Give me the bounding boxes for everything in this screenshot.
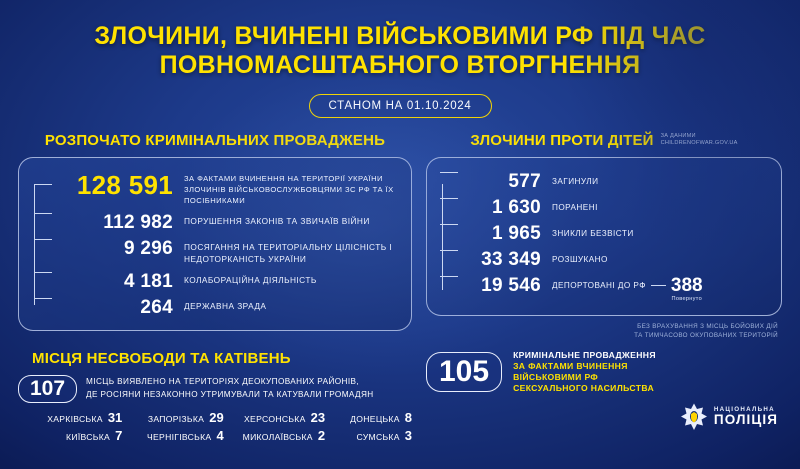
region-item: Донецька 8 xyxy=(325,410,412,425)
sv-line-2: за фактами вчинення xyxy=(513,361,656,372)
proceedings-value: 264 xyxy=(55,298,173,317)
proceedings-section: РОЗПОЧАТО КРИМІНАЛЬНИХ ПРОВАДЖЕНЬ 128 59… xyxy=(18,132,412,340)
children-source: ЗА ДАНИМИ CHILDRENOFWAR.GOV.UA xyxy=(661,133,738,149)
children-row: 33 349 Розшукано xyxy=(461,250,767,269)
detention-desc-line-1: місць виявлено на територіях деокуповани… xyxy=(86,376,374,388)
detention-heading-label: МІСЦЯ НЕСВОБОДИ ТА КАТІВЕНЬ xyxy=(32,350,291,367)
sexual-violence-description: кримінальне провадження за фактами вчине… xyxy=(513,350,656,394)
region-value: 3 xyxy=(405,428,412,443)
children-row-deported: 19 546 Депортовані до РФ 388 Повернуто xyxy=(461,276,767,302)
region-item: Запорізька 29 xyxy=(122,410,223,425)
detention-section: МІСЦЯ НЕСВОБОДИ ТА КАТІВЕНЬ 107 місць ви… xyxy=(18,350,412,443)
sv-line-4: сексуального насильства xyxy=(513,383,656,394)
proceedings-row: 9 296 Посягання на територіальну цілісні… xyxy=(55,239,397,265)
bracket-tick-icon xyxy=(34,239,52,240)
proceedings-label: Порушення законів та звичаїв війни xyxy=(173,213,370,227)
as-of-date-badge: СТАНОМ НА 01.10.2024 xyxy=(309,94,492,118)
proceedings-row: 264 Державна зрада xyxy=(55,298,397,317)
region-name: Сумська xyxy=(357,432,400,442)
proceedings-row: 4 181 Колабораційна діяльність xyxy=(55,272,397,291)
title-line-2: ПОВНОМАСШТАБНОГО ВТОРГНЕННЯ xyxy=(0,51,800,80)
sexual-violence-count-badge: 105 xyxy=(426,352,502,392)
sexual-violence-summary: 105 кримінальне провадження за фактами в… xyxy=(426,350,782,394)
returned-value: 388 xyxy=(671,276,703,295)
region-item: Київська 7 xyxy=(18,428,122,443)
region-name: Київська xyxy=(66,432,110,442)
region-item: Херсонська 23 xyxy=(224,410,325,425)
region-name: Запорізька xyxy=(148,414,204,424)
detention-desc-line-2: де росіяни незаконно утримували та катув… xyxy=(86,389,374,401)
proceedings-label: Державна зрада xyxy=(173,298,266,312)
region-item: Чернігівська 4 xyxy=(122,428,223,443)
region-value: 31 xyxy=(108,410,122,425)
children-row: 577 Загинули xyxy=(461,172,767,191)
children-source-line-1: ЗА ДАНИМИ xyxy=(661,133,738,140)
region-name: Миколаївська xyxy=(243,432,313,442)
region-item: Харківська 31 xyxy=(18,410,122,425)
proceedings-heading-label: РОЗПОЧАТО КРИМІНАЛЬНИХ ПРОВАДЖЕНЬ xyxy=(45,132,385,149)
bracket-tick-icon xyxy=(440,250,458,251)
returned-label: Повернуто xyxy=(671,296,703,302)
region-value: 29 xyxy=(209,410,223,425)
sv-line-3: військовими РФ xyxy=(513,372,656,383)
region-value: 23 xyxy=(311,410,325,425)
title-line-1: ЗЛОЧИНИ, ВЧИНЕНІ ВІЙСЬКОВИМИ РФ ПІД ЧАС xyxy=(0,22,800,51)
region-item: Миколаївська 2 xyxy=(224,428,325,443)
proceedings-rows: 128 591 За фактами вчинення на території… xyxy=(31,172,397,317)
bracket-tick-icon xyxy=(440,224,458,225)
children-label: Поранені xyxy=(541,198,598,214)
sv-line-1: кримінальне провадження xyxy=(513,350,656,361)
police-badge-icon xyxy=(681,403,707,432)
police-logo: НАЦІОНАЛЬНА ПОЛІЦІЯ xyxy=(426,403,782,432)
children-label: Депортовані до РФ xyxy=(541,276,646,292)
detention-summary: 107 місць виявлено на територіях деокупо… xyxy=(18,375,412,403)
proceedings-label: Посягання на територіальну цілісність і … xyxy=(173,239,397,265)
bracket-tick-icon xyxy=(34,298,52,299)
children-footnote: Без врахування з місць бойових дій та ти… xyxy=(426,322,782,340)
connector-dash-icon xyxy=(651,285,666,286)
region-value: 7 xyxy=(115,428,122,443)
children-label: Зникли безвісти xyxy=(541,224,634,240)
deported-group: Депортовані до РФ 388 Повернуто xyxy=(541,276,767,302)
date-badge-wrapper: СТАНОМ НА 01.10.2024 xyxy=(0,94,800,118)
children-value: 1 630 xyxy=(461,198,541,217)
children-value: 1 965 xyxy=(461,224,541,243)
bracket-tick-icon xyxy=(440,172,458,173)
region-name: Чернігівська xyxy=(147,432,211,442)
region-name: Харківська xyxy=(47,414,103,424)
region-name: Херсонська xyxy=(244,414,306,424)
children-footnote-line-1: Без врахування з місць бойових дій xyxy=(426,322,778,331)
bracket-tick-icon xyxy=(34,272,52,273)
proceedings-value: 9 296 xyxy=(55,239,173,258)
proceedings-label: За фактами вчинення на території України… xyxy=(173,172,397,206)
bottom-row: МІСЦЯ НЕСВОБОДИ ТА КАТІВЕНЬ 107 місць ви… xyxy=(0,350,800,443)
proceedings-value: 112 982 xyxy=(55,213,173,232)
bracket-tick-icon xyxy=(440,276,458,277)
police-logo-text: НАЦІОНАЛЬНА ПОЛІЦІЯ xyxy=(714,407,778,428)
regions-row: Київська 7 Чернігівська 4 Миколаївська 2… xyxy=(18,428,412,443)
regions-breakdown: Харківська 31 Запорізька 29 Херсонська 2… xyxy=(18,410,412,443)
children-value: 577 xyxy=(461,172,541,191)
proceedings-row: 128 591 За фактами вчинення на території… xyxy=(55,172,397,206)
proceedings-panel: 128 591 За фактами вчинення на території… xyxy=(18,157,412,331)
children-footnote-line-2: та тимчасово окупованих територій xyxy=(426,331,778,340)
proceedings-value: 4 181 xyxy=(55,272,173,291)
proceedings-row: 112 982 Порушення законів та звичаїв вій… xyxy=(55,213,397,232)
proceedings-heading: РОЗПОЧАТО КРИМІНАЛЬНИХ ПРОВАДЖЕНЬ xyxy=(18,132,412,149)
proceedings-label: Колабораційна діяльність xyxy=(173,272,317,286)
children-row: 1 630 Поранені xyxy=(461,198,767,217)
bracket-line-left xyxy=(34,184,35,305)
children-value: 33 349 xyxy=(461,250,541,269)
children-panel: 577 Загинули 1 630 Поранені 1 965 Зникли… xyxy=(426,157,782,316)
detention-description: місць виявлено на територіях деокуповани… xyxy=(86,376,374,401)
region-value: 4 xyxy=(216,428,223,443)
children-value: 19 546 xyxy=(461,276,541,295)
detention-count-badge: 107 xyxy=(18,375,77,403)
proceedings-value: 128 591 xyxy=(55,172,173,198)
bracket-tick-icon xyxy=(34,184,52,185)
bracket-tick-icon xyxy=(34,213,52,214)
children-label: Розшукано xyxy=(541,250,608,266)
region-name: Донецька xyxy=(350,414,400,424)
region-item: Сумська 3 xyxy=(325,428,412,443)
sexual-violence-section: 105 кримінальне провадження за фактами в… xyxy=(426,350,782,443)
bracket-tick-icon xyxy=(440,198,458,199)
children-rows: 577 Загинули 1 630 Поранені 1 965 Зникли… xyxy=(439,172,767,302)
children-heading: ЗЛОЧИНИ ПРОТИ ДІТЕЙ ЗА ДАНИМИ CHILDRENOF… xyxy=(426,132,782,149)
children-row: 1 965 Зникли безвісти xyxy=(461,224,767,243)
main-columns: РОЗПОЧАТО КРИМІНАЛЬНИХ ПРОВАДЖЕНЬ 128 59… xyxy=(0,132,800,340)
detention-heading: МІСЦЯ НЕСВОБОДИ ТА КАТІВЕНЬ xyxy=(18,350,412,367)
children-label: Загинули xyxy=(541,172,598,188)
regions-row: Харківська 31 Запорізька 29 Херсонська 2… xyxy=(18,410,412,425)
children-source-line-2: CHILDRENOFWAR.GOV.UA xyxy=(661,140,738,147)
children-heading-label: ЗЛОЧИНИ ПРОТИ ДІТЕЙ xyxy=(470,132,653,149)
returned-block: 388 Повернуто xyxy=(671,276,703,302)
logo-line-2: ПОЛІЦІЯ xyxy=(714,413,778,427)
region-value: 8 xyxy=(405,410,412,425)
returned-group: 388 Повернуто xyxy=(651,276,703,302)
page-title: ЗЛОЧИНИ, ВЧИНЕНІ ВІЙСЬКОВИМИ РФ ПІД ЧАС … xyxy=(0,0,800,81)
bracket-line-right xyxy=(442,184,443,290)
children-section: ЗЛОЧИНИ ПРОТИ ДІТЕЙ ЗА ДАНИМИ CHILDRENOF… xyxy=(426,132,782,340)
infographic-canvas: ЗЛОЧИНИ, ВЧИНЕНІ ВІЙСЬКОВИМИ РФ ПІД ЧАС … xyxy=(0,0,800,469)
region-value: 2 xyxy=(318,428,325,443)
